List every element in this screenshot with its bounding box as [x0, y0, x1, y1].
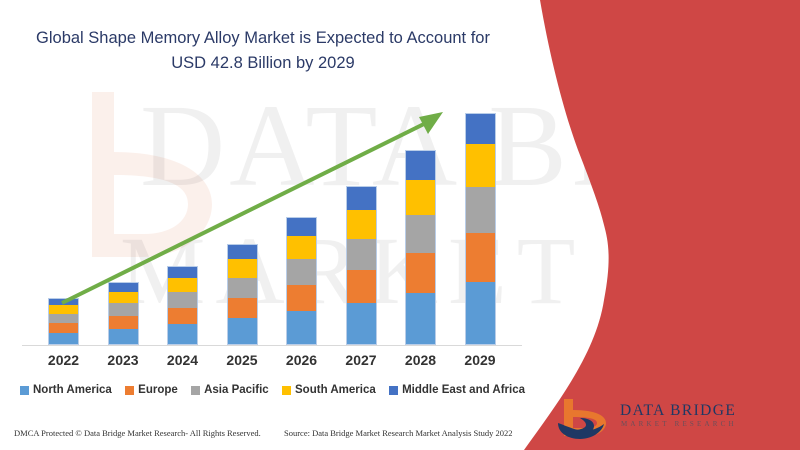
data-bridge-logo-mark: [556, 396, 614, 440]
legend-swatch-icon: [125, 386, 134, 395]
logo-primary-text: DATA BRIDGE: [620, 402, 736, 420]
logo-secondary-text: MARKET RESEARCH: [621, 420, 737, 428]
legend-label: Asia Pacific: [204, 384, 269, 396]
legend-label: North America: [33, 384, 112, 396]
legend-label: Europe: [138, 384, 178, 396]
legend-swatch-icon: [20, 386, 29, 395]
brand-panel: Global Shape Memory Alloy Market, By Reg…: [500, 0, 800, 450]
legend-swatch-icon: [282, 386, 291, 395]
x-axis-label-2025: 2025: [212, 352, 272, 368]
chart-legend: North AmericaEuropeAsia PacificSouth Ame…: [20, 381, 525, 399]
legend-item-asia-pacific[interactable]: Asia Pacific: [191, 384, 269, 396]
x-axis-label-2027: 2027: [331, 352, 391, 368]
legend-swatch-icon: [389, 386, 398, 395]
infographic-canvas: DATA BRIDGE MARKET RESEARCH Global Shape…: [0, 0, 800, 450]
x-axis-label-2022: 2022: [34, 352, 94, 368]
footer-copyright: DMCA Protected © Data Bridge Market Rese…: [14, 428, 261, 438]
legend-swatch-icon: [191, 386, 200, 395]
legend-item-south-america[interactable]: South America: [282, 384, 376, 396]
x-axis-label-2024: 2024: [153, 352, 213, 368]
legend-item-north-america[interactable]: North America: [20, 384, 112, 396]
x-axis-label-2028: 2028: [391, 352, 451, 368]
chart-x-axis-labels: 20222023202420252026202720282029: [0, 352, 540, 374]
growth-trend-arrow: [0, 0, 540, 360]
legend-item-europe[interactable]: Europe: [125, 384, 178, 396]
x-axis-label-2023: 2023: [93, 352, 153, 368]
brand-panel-shape: [500, 0, 800, 450]
footer-bar: DMCA Protected © Data Bridge Market Rese…: [0, 420, 540, 450]
legend-label: South America: [295, 384, 376, 396]
data-bridge-logo: DATA BRIDGE MARKET RESEARCH: [556, 396, 756, 442]
stacked-bar-chart: 20222023202420252026202720282029 North A…: [0, 0, 540, 400]
footer-source: Source: Data Bridge Market Research Mark…: [284, 428, 513, 438]
x-axis-label-2026: 2026: [272, 352, 332, 368]
